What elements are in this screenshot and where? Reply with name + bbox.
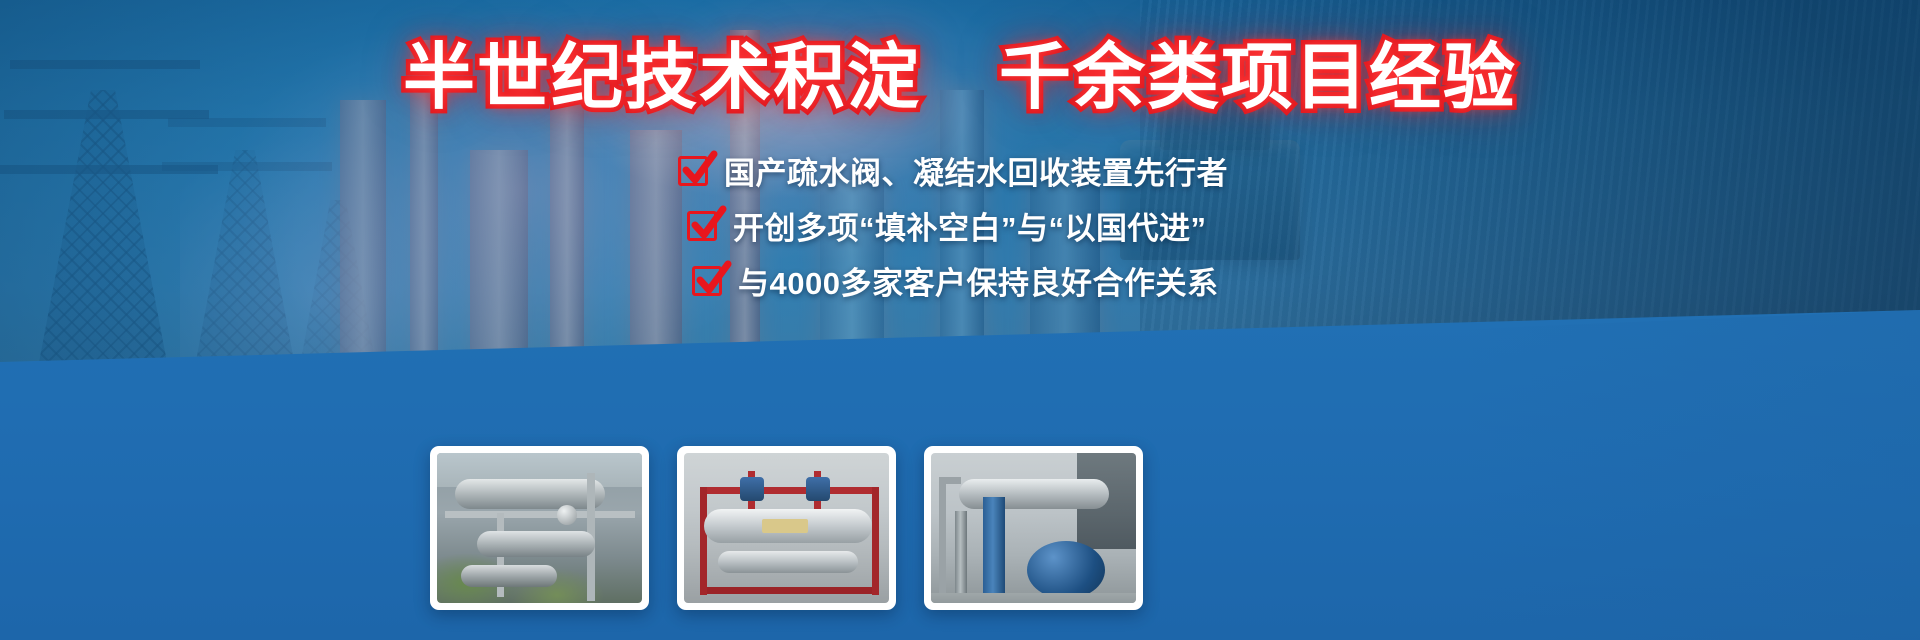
- image-detail: [700, 587, 879, 594]
- image-detail: [477, 531, 595, 557]
- image-detail: [1027, 541, 1105, 599]
- product-image-2: [684, 453, 889, 603]
- list-item: 开创多项“填补空白”与“以国代进”: [687, 203, 1247, 248]
- checkbox-checked-icon: [678, 156, 708, 186]
- image-detail: [931, 593, 1136, 603]
- image-detail: [718, 551, 858, 573]
- image-detail: [955, 511, 967, 599]
- image-detail: [455, 479, 605, 509]
- list-item-label: 开创多项“填补空白”与“以国代进”: [733, 203, 1207, 248]
- promo-banner: 半世纪技术积淀 千余类项目经验 国产疏水阀、凝结水回收装置先行者 开创多项“填补…: [0, 0, 1920, 640]
- list-item: 与4000多家客户保持良好合作关系: [692, 258, 1252, 303]
- image-detail: [762, 519, 808, 533]
- page-title: 半世纪技术积淀 千余类项目经验: [0, 40, 1920, 116]
- product-photo-gallery: [430, 446, 1143, 610]
- product-photo-card[interactable]: [430, 446, 649, 610]
- list-item: 国产疏水阀、凝结水回收装置先行者: [678, 148, 1238, 193]
- image-detail: [983, 497, 1005, 599]
- image-detail: [806, 477, 830, 501]
- image-detail: [959, 479, 1109, 509]
- image-detail: [557, 505, 577, 525]
- list-item-label: 国产疏水阀、凝结水回收装置先行者: [724, 148, 1228, 193]
- checkbox-checked-icon: [692, 266, 722, 296]
- product-photo-card[interactable]: [924, 446, 1143, 610]
- product-image-3: [931, 453, 1136, 603]
- image-detail: [445, 511, 635, 518]
- image-detail: [700, 487, 879, 494]
- product-photo-card[interactable]: [677, 446, 896, 610]
- image-detail: [872, 487, 879, 595]
- headline-part-2: 千余类项目经验: [999, 38, 1517, 118]
- image-detail: [740, 477, 764, 501]
- list-item-label: 与4000多家客户保持良好合作关系: [738, 258, 1218, 303]
- image-detail: [700, 487, 707, 595]
- feature-list: 国产疏水阀、凝结水回收装置先行者 开创多项“填补空白”与“以国代进” 与4000…: [0, 148, 1920, 303]
- image-detail: [939, 477, 946, 597]
- image-detail: [461, 565, 557, 587]
- checkbox-checked-icon: [687, 211, 717, 241]
- product-image-1: [437, 453, 642, 603]
- headline-part-1: 半世纪技术积淀: [403, 38, 921, 118]
